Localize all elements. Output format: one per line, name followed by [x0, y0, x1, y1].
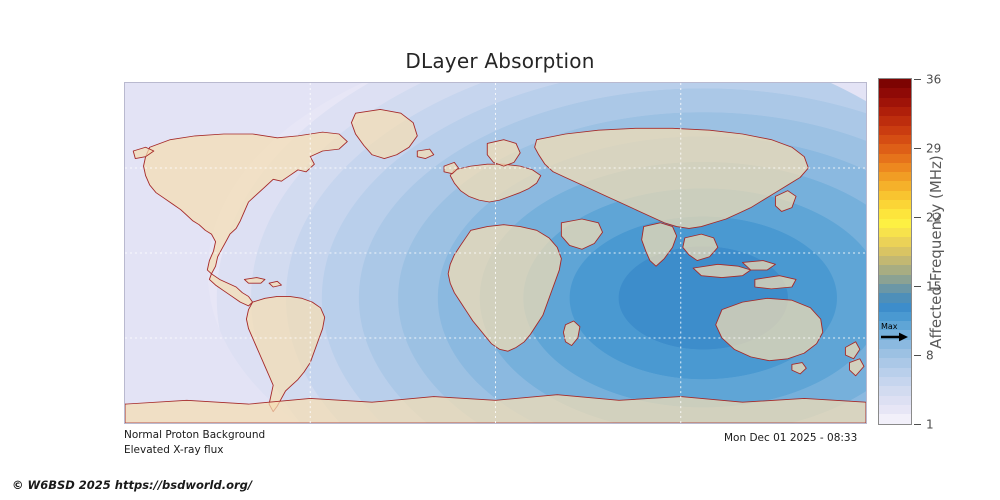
colorbar-band — [879, 349, 911, 358]
page-title: DLayer Absorption — [0, 49, 1000, 73]
colorbar-band — [879, 237, 911, 246]
colorbar-band — [879, 135, 911, 144]
colorbar-band — [879, 154, 911, 163]
colorbar-band — [879, 107, 911, 116]
world-map[interactable] — [124, 82, 867, 424]
copyright-footer: © W6BSD 2025 https://bsdworld.org/ — [12, 478, 252, 492]
colorbar-band — [879, 303, 911, 312]
graticule-gridlines — [125, 83, 866, 423]
colorbar-band — [879, 340, 911, 349]
timestamp: Mon Dec 01 2025 - 08:33 — [724, 432, 857, 444]
colorbar-band — [879, 265, 911, 274]
colorbar-band — [879, 116, 911, 125]
colorbar-band — [879, 228, 911, 237]
colorbar-band — [879, 219, 911, 228]
colorbar-band — [879, 386, 911, 395]
colorbar-tick-mark — [914, 286, 921, 287]
colorbar-tick-mark — [914, 424, 921, 425]
colorbar-band — [879, 368, 911, 377]
annotation-proton-background: Normal Proton Background — [124, 429, 265, 441]
colorbar-band — [879, 126, 911, 135]
colorbar-band — [879, 312, 911, 321]
colorbar-band — [879, 172, 911, 181]
colorbar-axis-label: Affected Frequency (MHz) — [925, 78, 947, 425]
colorbar-band — [879, 144, 911, 153]
figure-root: DLayer Absorption — [0, 0, 1000, 500]
colorbar-tick-mark — [914, 79, 921, 80]
colorbar-band — [879, 247, 911, 256]
annotation-xray-flux: Elevated X-ray flux — [124, 444, 223, 456]
colorbar-band — [879, 321, 911, 330]
colorbar-band — [879, 293, 911, 302]
colorbar-band — [879, 79, 911, 88]
colorbar-band — [879, 284, 911, 293]
colorbar-tick-mark — [914, 355, 921, 356]
colorbar-band — [879, 191, 911, 200]
colorbar-band — [879, 163, 911, 172]
colorbar-band — [879, 414, 911, 423]
colorbar[interactable]: 1815222936 — [878, 78, 912, 425]
colorbar-band — [879, 88, 911, 97]
colorbar-band — [879, 98, 911, 107]
colorbar-band — [879, 200, 911, 209]
colorbar-band — [879, 330, 911, 339]
colorbar-axis-label-text: Affected Frequency (MHz) — [927, 155, 945, 349]
colorbar-band — [879, 377, 911, 386]
colorbar-band — [879, 181, 911, 190]
colorbar-band — [879, 256, 911, 265]
colorbar-tick-mark — [914, 148, 921, 149]
colorbar-tick-mark — [914, 217, 921, 218]
colorbar-gradient-strip — [878, 78, 912, 425]
colorbar-band — [879, 275, 911, 284]
colorbar-band — [879, 405, 911, 414]
colorbar-band — [879, 396, 911, 405]
colorbar-band — [879, 358, 911, 367]
colorbar-band — [879, 209, 911, 218]
